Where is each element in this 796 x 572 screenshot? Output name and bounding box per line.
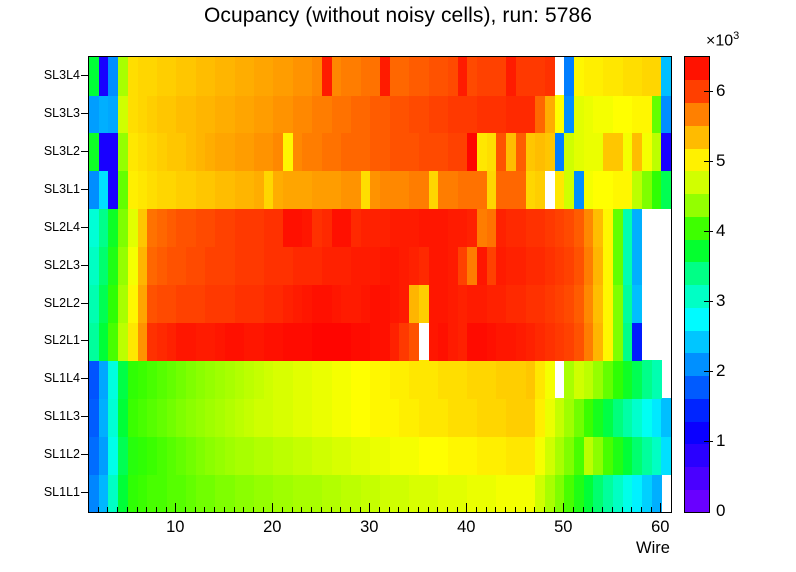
heatmap-cell	[632, 247, 642, 286]
x-axis-tick	[457, 507, 458, 512]
heatmap-cell	[661, 133, 671, 172]
x-axis-tick	[301, 507, 302, 512]
x-axis-tick	[573, 507, 574, 512]
x-axis-tick	[98, 507, 99, 512]
y-axis-tick	[81, 113, 88, 114]
x-axis-tick	[321, 507, 322, 512]
y-axis-label: SL3L1	[10, 182, 80, 196]
x-axis-tick	[214, 507, 215, 512]
heatmap-cell	[661, 398, 671, 437]
y-axis-label: SL2L2	[10, 296, 80, 310]
x-axis-tick-label: 50	[554, 518, 572, 537]
y-axis-tick	[81, 416, 88, 417]
y-axis-tick	[81, 492, 88, 493]
x-axis-tick	[282, 507, 283, 512]
y-axis-tick	[81, 227, 88, 228]
y-axis-label: SL2L4	[10, 220, 80, 234]
y-axis-tick	[81, 454, 88, 455]
color-scale-tick	[704, 371, 713, 372]
x-axis-tick	[243, 507, 244, 512]
y-axis-tick	[81, 265, 88, 266]
x-axis-tick	[117, 507, 118, 512]
x-axis-tick	[563, 503, 564, 512]
y-axis-tick	[81, 75, 88, 76]
color-scale-exponent: ×103	[706, 30, 739, 50]
x-axis-tick	[146, 507, 147, 512]
heatmap-cell	[661, 95, 671, 134]
x-axis-tick	[641, 507, 642, 512]
x-axis-tick	[185, 507, 186, 512]
heatmap-cell	[661, 171, 671, 210]
heatmap-cell	[632, 322, 642, 361]
y-axis-tick	[81, 151, 88, 152]
x-axis-tick	[651, 507, 652, 512]
x-axis-tick	[195, 507, 196, 512]
x-axis-tick	[204, 507, 205, 512]
x-axis-tick	[466, 503, 467, 512]
x-axis-title: Wire	[636, 539, 670, 558]
x-axis-tick	[515, 507, 516, 512]
x-axis-tick	[350, 507, 351, 512]
root-canvas: Ocupancy (without noisy cells), run: 578…	[0, 0, 796, 572]
x-axis-tick	[486, 507, 487, 512]
x-axis-tick	[554, 507, 555, 512]
y-axis-label: SL2L3	[10, 258, 80, 272]
y-axis-label: SL1L3	[10, 409, 80, 423]
x-axis-tick-label: 60	[651, 518, 669, 537]
color-scale-ticks: 0123456	[684, 56, 744, 513]
x-axis-tick	[107, 507, 108, 512]
y-axis-tick	[81, 340, 88, 341]
x-axis-tick	[437, 507, 438, 512]
y-axis-label: SL2L1	[10, 333, 80, 347]
x-axis-tick	[156, 507, 157, 512]
y-axis-label: SL1L2	[10, 447, 80, 461]
heatmap-cell	[545, 57, 555, 96]
x-axis-tick	[311, 507, 312, 512]
y-axis-label: SL3L4	[10, 68, 80, 82]
heatmap-cell	[652, 360, 662, 399]
heatmap-cell	[632, 209, 642, 248]
x-axis-tick-label: 20	[263, 518, 281, 537]
x-axis-tick	[602, 507, 603, 512]
x-axis-tick	[583, 507, 584, 512]
y-axis-tick	[81, 303, 88, 304]
color-scale-label: 4	[716, 221, 725, 241]
color-scale-tick	[704, 161, 713, 162]
x-axis-tick	[369, 503, 370, 512]
x-axis-tick	[379, 507, 380, 512]
x-axis-tick	[408, 507, 409, 512]
x-axis-tick	[447, 507, 448, 512]
x-axis-tick	[253, 507, 254, 512]
heatmap-cell	[661, 436, 671, 475]
x-axis-tick	[175, 503, 176, 512]
y-axis-label: SL1L4	[10, 371, 80, 385]
y-axis-tick	[81, 378, 88, 379]
x-axis-tick	[660, 503, 661, 512]
heatmap-plot-frame[interactable]	[88, 56, 672, 513]
x-axis-tick	[166, 507, 167, 512]
x-axis-tick	[631, 507, 632, 512]
x-axis-tick	[612, 507, 613, 512]
x-axis-tick	[137, 507, 138, 512]
x-axis-tick	[224, 507, 225, 512]
x-axis-tick	[495, 507, 496, 512]
x-axis-tick	[525, 507, 526, 512]
x-axis-tick	[622, 507, 623, 512]
heatmap-cell	[661, 57, 671, 96]
x-axis-tick	[592, 507, 593, 512]
color-scale-label: 0	[716, 501, 725, 521]
color-scale-tick	[704, 91, 713, 92]
x-axis-tick	[360, 507, 361, 512]
x-axis-tick	[476, 507, 477, 512]
color-scale-tick	[704, 301, 713, 302]
x-axis-tick	[263, 507, 264, 512]
heatmap-cell	[535, 171, 545, 210]
x-axis-tick	[428, 507, 429, 512]
x-axis-tick	[88, 507, 89, 512]
x-axis-tick	[272, 503, 273, 512]
color-scale-label: 2	[716, 361, 725, 381]
color-scale-label: 6	[716, 81, 725, 101]
heatmap-cell	[632, 285, 642, 324]
x-axis-tick	[398, 507, 399, 512]
x-axis-tick	[418, 507, 419, 512]
x-axis-tick	[544, 507, 545, 512]
x-axis-tick-label: 30	[360, 518, 378, 537]
x-axis-tick	[534, 507, 535, 512]
x-axis-tick-label: 10	[166, 518, 184, 537]
x-axis-tick	[292, 507, 293, 512]
heatmap-cell	[409, 322, 419, 361]
color-scale-label: 3	[716, 291, 725, 311]
x-axis-tick-label: 40	[457, 518, 475, 537]
x-axis-tick	[234, 507, 235, 512]
color-scale-tick	[704, 231, 713, 232]
color-scale-label: 1	[716, 431, 725, 451]
color-scale-label: 5	[716, 151, 725, 171]
heatmap-cell	[545, 360, 555, 399]
y-axis-label: SL1L1	[10, 485, 80, 499]
x-axis-tick	[389, 507, 390, 512]
y-axis-label: SL3L3	[10, 106, 80, 120]
heatmap-cells	[89, 57, 671, 512]
y-axis-tick	[81, 189, 88, 190]
page-title: Ocupancy (without noisy cells), run: 578…	[0, 4, 796, 28]
y-axis-label: SL3L2	[10, 144, 80, 158]
x-axis-tick	[331, 507, 332, 512]
x-axis-tick	[340, 507, 341, 512]
x-axis-tick	[127, 507, 128, 512]
x-axis-tick	[505, 507, 506, 512]
color-scale-tick	[704, 441, 713, 442]
